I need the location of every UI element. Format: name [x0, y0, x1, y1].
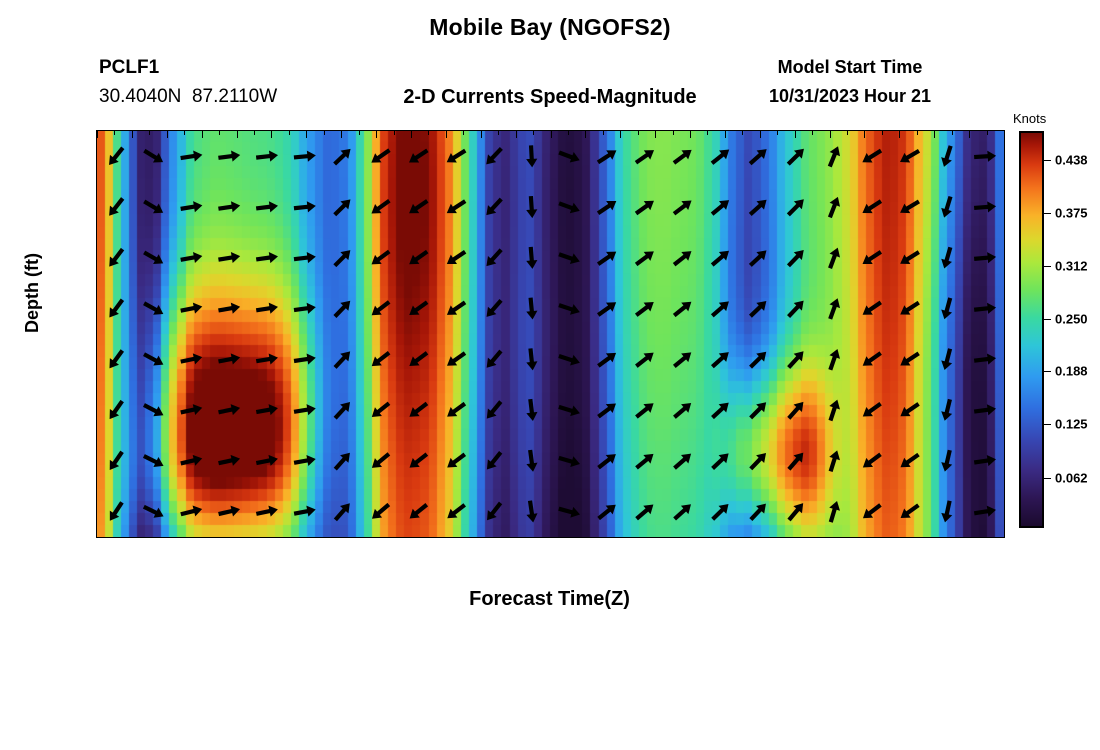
x-axis-minor-tick: [638, 131, 639, 135]
colorbar-tick: [1042, 160, 1051, 161]
current-vector-arrow: [217, 504, 241, 520]
current-vector-arrow: [747, 348, 771, 371]
x-axis-tick-top: [620, 131, 621, 138]
x-axis-tick-top: [830, 131, 831, 138]
current-vector-arrow: [293, 302, 316, 316]
current-vector-arrow: [256, 150, 279, 164]
x-axis-tick: [795, 537, 796, 538]
x-axis-tick-top: [1004, 131, 1005, 138]
x-axis-tick: [411, 537, 412, 538]
current-vector-arrow: [368, 247, 392, 269]
current-vector-arrow: [444, 146, 469, 167]
current-vector-arrow: [897, 298, 922, 319]
current-vector-arrow: [331, 348, 354, 372]
y-axis-minor-tick: [96, 334, 97, 335]
current-vector-arrow: [671, 247, 695, 269]
x-axis-minor-tick: [987, 131, 988, 135]
current-vector-arrow: [141, 451, 166, 471]
current-vector-arrow: [525, 348, 538, 371]
current-vector-arrow: [709, 500, 733, 523]
x-axis-tick-top: [446, 131, 447, 138]
current-vector-arrow: [525, 449, 539, 472]
current-vector-arrow: [973, 403, 996, 417]
current-vector-arrow: [331, 500, 354, 524]
current-vector-arrow: [406, 348, 430, 370]
x-axis-minor-tick: [952, 131, 953, 135]
x-axis-tick: [1004, 537, 1005, 538]
x-axis-tick: [271, 537, 272, 538]
current-vector-arrow: [974, 302, 997, 315]
current-vector-arrow: [525, 145, 537, 168]
current-vector-arrow: [180, 402, 204, 418]
current-vector-arrow: [255, 352, 279, 367]
x-axis-tick: [969, 537, 970, 538]
current-vector-arrow: [825, 499, 842, 523]
y-axis-minor-tick: [96, 192, 97, 193]
x-axis-minor-tick: [219, 131, 220, 135]
y-axis-minor-tick: [96, 253, 97, 254]
y-axis-minor-tick: [96, 354, 97, 355]
model-start-time-value: 10/31/2023 Hour 21: [700, 86, 1000, 107]
model-start-time-label: Model Start Time: [700, 57, 1000, 78]
current-vector-arrow: [444, 247, 469, 269]
x-axis-minor-tick: [603, 131, 604, 135]
current-vector-arrow: [444, 348, 468, 370]
current-vector-arrow: [180, 352, 204, 367]
current-vector-arrow: [557, 147, 582, 165]
current-vector-arrow: [293, 352, 316, 366]
current-vector-arrow: [105, 144, 128, 168]
current-vector-arrow: [595, 196, 620, 218]
current-vector-arrow: [825, 296, 843, 320]
current-vector-arrow: [859, 247, 884, 268]
current-vector-arrow: [939, 195, 956, 219]
x-axis-tick-top: [725, 131, 726, 138]
x-axis-minor-tick: [498, 131, 499, 135]
current-vector-arrow: [255, 453, 279, 468]
current-vector-arrow: [746, 196, 770, 219]
x-axis-tick-top: [97, 131, 98, 138]
x-axis-title: Forecast Time(Z): [96, 588, 1003, 611]
y-axis-tick: [96, 375, 97, 376]
current-vector-arrow: [671, 500, 695, 523]
current-vector-arrow: [141, 349, 166, 369]
current-vector-arrow: [331, 246, 354, 269]
x-axis-tick-top: [341, 131, 342, 138]
current-vector-arrow: [368, 297, 392, 319]
current-vector-arrow: [709, 399, 733, 422]
x-axis-tick-top: [795, 131, 796, 138]
current-vector-arrow: [633, 450, 657, 473]
station-id-label: PCLF1: [99, 57, 159, 79]
current-vector-arrow: [180, 250, 204, 265]
current-vector-arrow: [483, 499, 505, 523]
current-vector-arrow: [368, 146, 392, 168]
y-axis-minor-tick: [96, 476, 97, 477]
current-vector-arrow: [557, 351, 581, 368]
current-vector-arrow: [671, 196, 695, 218]
current-vector-arrow: [406, 500, 430, 523]
current-vector-arrow: [747, 297, 771, 320]
current-vector-arrow: [784, 145, 808, 168]
x-axis-tick-top: [271, 131, 272, 138]
current-vector-arrow: [105, 398, 127, 422]
current-vector-arrow: [595, 348, 619, 370]
current-vector-arrow: [747, 449, 770, 473]
colorbar-tick: [1042, 213, 1051, 214]
colorbar-tick-label: 0.375: [1055, 206, 1088, 221]
current-vector-arrow: [973, 454, 996, 468]
colorbar-title: Knots: [1013, 111, 1046, 126]
current-vector-arrow: [482, 195, 505, 219]
x-axis-tick-top: [760, 131, 761, 138]
y-axis-tick: [96, 293, 97, 294]
colorbar-tick: [1042, 371, 1051, 372]
current-vector-arrow: [105, 347, 127, 371]
current-vector-arrow: [860, 500, 884, 522]
current-vector-arrow: [633, 297, 657, 319]
current-vector-arrow: [217, 352, 241, 367]
current-vector-arrow: [709, 297, 733, 320]
colorbar-tick-label: 0.188: [1055, 364, 1088, 379]
current-vector-arrow: [217, 402, 241, 417]
current-vector-arrow: [897, 399, 921, 421]
y-axis-minor-tick: [96, 395, 97, 396]
x-axis-tick-top: [132, 131, 133, 138]
y-axis-minor-tick: [96, 273, 97, 274]
current-vector-arrow: [255, 403, 279, 418]
x-axis-tick: [237, 537, 238, 538]
current-vector-arrow: [218, 149, 241, 163]
x-axis-tick: [690, 537, 691, 538]
x-axis-tick-top: [516, 131, 517, 138]
current-vector-arrow: [255, 301, 278, 315]
x-axis-tick-top: [167, 131, 168, 138]
x-axis-tick: [97, 537, 98, 538]
current-vector-arrow: [331, 145, 355, 168]
y-axis-minor-tick: [96, 233, 97, 234]
x-axis-tick: [516, 537, 517, 538]
current-vector-arrow: [444, 196, 469, 217]
current-vector-arrow: [633, 399, 657, 421]
current-vector-arrow: [633, 196, 657, 218]
x-axis-tick-top: [202, 131, 203, 138]
current-vector-arrow: [897, 247, 922, 268]
current-vector-arrow: [525, 399, 539, 422]
current-vector-arrow: [105, 296, 127, 320]
current-vector-arrow: [444, 500, 468, 522]
x-axis-minor-tick: [847, 131, 848, 135]
current-vector-arrow: [709, 145, 733, 167]
current-vector-arrow: [141, 197, 166, 218]
current-vector-arrow: [180, 453, 204, 469]
current-vector-arrow: [331, 195, 355, 218]
current-vector-arrow: [825, 246, 843, 271]
current-vector-arrow: [709, 196, 733, 219]
current-vector-arrow: [859, 146, 884, 167]
current-vector-arrow: [368, 196, 392, 218]
y-axis-minor-tick: [96, 314, 97, 315]
current-vector-arrow: [860, 399, 884, 421]
current-vector-arrow: [557, 452, 581, 469]
x-axis-tick: [446, 537, 447, 538]
current-vector-arrow: [255, 200, 278, 214]
x-axis-tick-top: [899, 131, 900, 138]
x-axis-tick: [655, 537, 656, 538]
y-axis-tick: [96, 456, 97, 457]
current-vector-arrow: [482, 398, 505, 422]
current-vector-arrow: [483, 449, 506, 473]
x-axis-minor-tick: [568, 131, 569, 135]
x-axis-minor-tick: [812, 131, 813, 135]
current-vector-arrow: [525, 297, 538, 320]
x-axis-tick: [899, 537, 900, 538]
y-axis-minor-tick: [96, 151, 97, 152]
current-vector-arrow: [974, 251, 997, 264]
current-vector-arrow: [406, 298, 430, 320]
y-axis-minor-tick: [96, 496, 97, 497]
current-vector-arrow: [671, 449, 695, 472]
current-vector-arrow: [633, 146, 657, 168]
current-vector-arrow: [709, 348, 733, 371]
colorbar-tick: [1042, 319, 1051, 320]
x-axis-tick-top: [481, 131, 482, 138]
current-vector-arrow: [557, 198, 582, 216]
current-vector-arrow: [825, 144, 844, 169]
x-axis-minor-tick: [707, 131, 708, 135]
current-vector-arrow: [180, 301, 204, 316]
x-axis-minor-tick: [777, 131, 778, 135]
x-axis-minor-tick: [359, 131, 360, 135]
current-vector-arrow: [406, 450, 430, 472]
y-axis-tick: [96, 537, 97, 538]
current-vector-arrow: [444, 298, 468, 320]
current-vector-arrow: [595, 298, 619, 320]
y-axis-minor-tick: [96, 517, 97, 518]
current-vector-arrow: [974, 201, 997, 214]
x-axis-minor-tick: [917, 131, 918, 135]
current-vector-arrow: [939, 398, 955, 422]
x-axis-tick-top: [864, 131, 865, 138]
y-axis-minor-tick: [96, 172, 97, 173]
x-axis-minor-tick: [289, 131, 290, 135]
current-vector-arrow: [825, 398, 843, 422]
current-vector-arrow: [331, 297, 354, 321]
current-vector-arrow: [180, 200, 204, 215]
colorbar-tick: [1042, 266, 1051, 267]
current-vector-arrow: [974, 150, 997, 163]
x-axis-tick: [306, 537, 307, 538]
current-vector-arrow: [218, 301, 242, 316]
current-vector-arrow: [860, 450, 884, 472]
current-vector-arrow: [709, 247, 733, 270]
x-axis-tick-top: [306, 131, 307, 138]
colorbar-tick-label: 0.250: [1055, 311, 1088, 326]
colorbar-tick-label: 0.438: [1055, 153, 1088, 168]
current-vector-arrow: [105, 449, 127, 473]
current-vector-arrow: [141, 146, 166, 167]
current-vector-arrow: [897, 501, 921, 523]
x-axis-tick: [132, 537, 133, 538]
x-axis-minor-tick: [254, 131, 255, 135]
current-vector-arrow: [525, 196, 538, 219]
x-axis-tick: [202, 537, 203, 538]
current-vector-arrow: [671, 145, 695, 167]
x-axis-minor-tick: [742, 131, 743, 135]
x-axis-tick: [167, 537, 168, 538]
current-vector-arrow: [785, 348, 808, 372]
current-vector-arrow: [784, 297, 807, 321]
current-vector-arrow: [633, 247, 657, 269]
current-vector-arrow: [595, 399, 619, 421]
y-axis-tick: [96, 212, 97, 213]
heatmap-plot-area: 036912151821036912151821036912151821036O…: [96, 130, 1005, 538]
current-vector-arrow: [105, 246, 127, 270]
x-axis-tick-top: [585, 131, 586, 138]
current-vector-arrow: [825, 347, 843, 371]
current-vector-arrow: [141, 400, 166, 420]
y-axis-tick: [96, 131, 97, 132]
current-vector-arrow: [825, 195, 843, 220]
current-vector-arrow: [179, 504, 203, 520]
current-vector-arrow: [747, 246, 771, 269]
colorbar-tick: [1042, 424, 1051, 425]
current-vector-arrow: [368, 500, 392, 523]
x-axis-tick: [620, 537, 621, 538]
current-vector-arrow: [939, 246, 956, 270]
current-vector-arrow: [746, 145, 770, 168]
current-vector-arrow: [141, 502, 166, 522]
current-vector-arrow: [557, 402, 581, 419]
current-vector-arrow: [293, 200, 316, 213]
current-vector-arrow: [784, 195, 807, 219]
current-vector-arrow: [293, 403, 317, 418]
current-vector-arrow: [939, 449, 955, 473]
current-vector-arrow: [940, 500, 956, 524]
current-vector-arrow: [939, 347, 955, 371]
x-axis-minor-tick: [114, 131, 115, 135]
x-axis-tick: [341, 537, 342, 538]
current-vector-arrow: [897, 197, 922, 218]
current-vector-arrow: [785, 398, 808, 422]
current-vector-arrow: [671, 399, 695, 422]
current-vector-arrow: [825, 449, 842, 473]
current-vector-arrow: [939, 144, 956, 168]
current-vector-arrow: [331, 398, 354, 422]
current-vector-arrow: [141, 248, 166, 269]
current-vector-arrow: [897, 349, 922, 370]
current-vector-arrow: [406, 146, 431, 167]
current-vector-arrow: [633, 348, 657, 370]
current-vector-arrow: [557, 300, 581, 318]
current-vector-arrow: [406, 196, 430, 218]
current-vector-arrow: [747, 398, 770, 422]
x-axis-tick-top: [655, 131, 656, 138]
y-axis-minor-tick: [96, 436, 97, 437]
x-axis-minor-tick: [882, 131, 883, 135]
current-vector-arrow: [482, 347, 505, 371]
x-axis-minor-tick: [533, 131, 534, 135]
current-vector-arrow: [218, 251, 241, 266]
x-axis-tick: [934, 537, 935, 538]
current-vector-arrow: [141, 298, 166, 318]
current-vector-arrow: [595, 450, 619, 472]
x-axis-minor-tick: [149, 131, 150, 135]
current-vector-arrow: [293, 150, 316, 163]
x-axis-tick-top: [411, 131, 412, 138]
current-vector-arrow: [671, 297, 695, 320]
current-vector-arrow: [218, 200, 241, 214]
x-axis-tick: [830, 537, 831, 538]
current-vector-arrow: [105, 195, 127, 219]
colorbar-tick-label: 0.062: [1055, 470, 1088, 485]
x-axis-tick: [481, 537, 482, 538]
current-vector-arrow: [939, 297, 956, 321]
current-vector-arrow: [785, 449, 808, 473]
x-axis-minor-tick: [673, 131, 674, 135]
current-vector-arrow: [633, 500, 657, 523]
colorbar-tick-label: 0.125: [1055, 417, 1088, 432]
x-axis-tick: [376, 537, 377, 538]
current-vector-arrow: [255, 504, 279, 519]
x-axis-tick-top: [551, 131, 552, 138]
x-axis-tick-top: [237, 131, 238, 138]
current-vector-arrow: [974, 353, 997, 367]
current-vector-arrow: [482, 297, 505, 321]
current-vector-arrow: [595, 500, 619, 522]
x-axis-tick-top: [969, 131, 970, 138]
current-vector-arrow: [973, 504, 996, 519]
current-vector-arrow: [293, 453, 317, 468]
x-axis-tick: [760, 537, 761, 538]
colorbar-tick: [1042, 478, 1051, 479]
current-vector-arrow: [525, 246, 538, 269]
x-axis-minor-tick: [394, 131, 395, 135]
current-vector-arrow: [368, 348, 392, 370]
current-vector-arrow: [180, 149, 203, 163]
y-axis-minor-tick: [96, 415, 97, 416]
x-axis-tick-top: [934, 131, 935, 138]
current-vector-arrow: [595, 247, 619, 269]
colorbar-tick-label: 0.312: [1055, 259, 1088, 274]
current-vector-arrow: [406, 399, 430, 421]
current-vector-arrow: [595, 146, 620, 167]
chart-canvas: Mobile Bay (NGOFS2) PCLF1 30.4040N 87.21…: [0, 0, 1100, 750]
current-vector-arrow: [406, 247, 430, 269]
current-vector-arrow: [859, 196, 884, 217]
current-vector-arrow: [444, 450, 468, 472]
x-axis-minor-tick: [428, 131, 429, 135]
current-vector-arrow: [524, 500, 538, 523]
current-vector-arrow: [897, 450, 921, 472]
current-vector-arrow: [784, 246, 807, 270]
x-axis-minor-tick: [324, 131, 325, 135]
x-axis-minor-tick: [184, 131, 185, 135]
current-vector-arrow: [331, 449, 354, 473]
current-vector-arrow: [859, 298, 883, 320]
current-vector-arrow: [482, 246, 505, 270]
current-vector-arrow: [859, 348, 883, 370]
x-axis-tick: [551, 537, 552, 538]
y-axis-title: Depth (ft): [22, 253, 43, 333]
current-vector-arrow: [105, 499, 126, 524]
current-vector-arrow: [557, 503, 581, 520]
current-vector-arrow: [671, 348, 695, 371]
current-vector-arrow: [897, 146, 922, 167]
current-vector-arrow: [293, 251, 316, 265]
x-axis-tick: [585, 537, 586, 538]
current-vector-arrow: [557, 249, 581, 267]
